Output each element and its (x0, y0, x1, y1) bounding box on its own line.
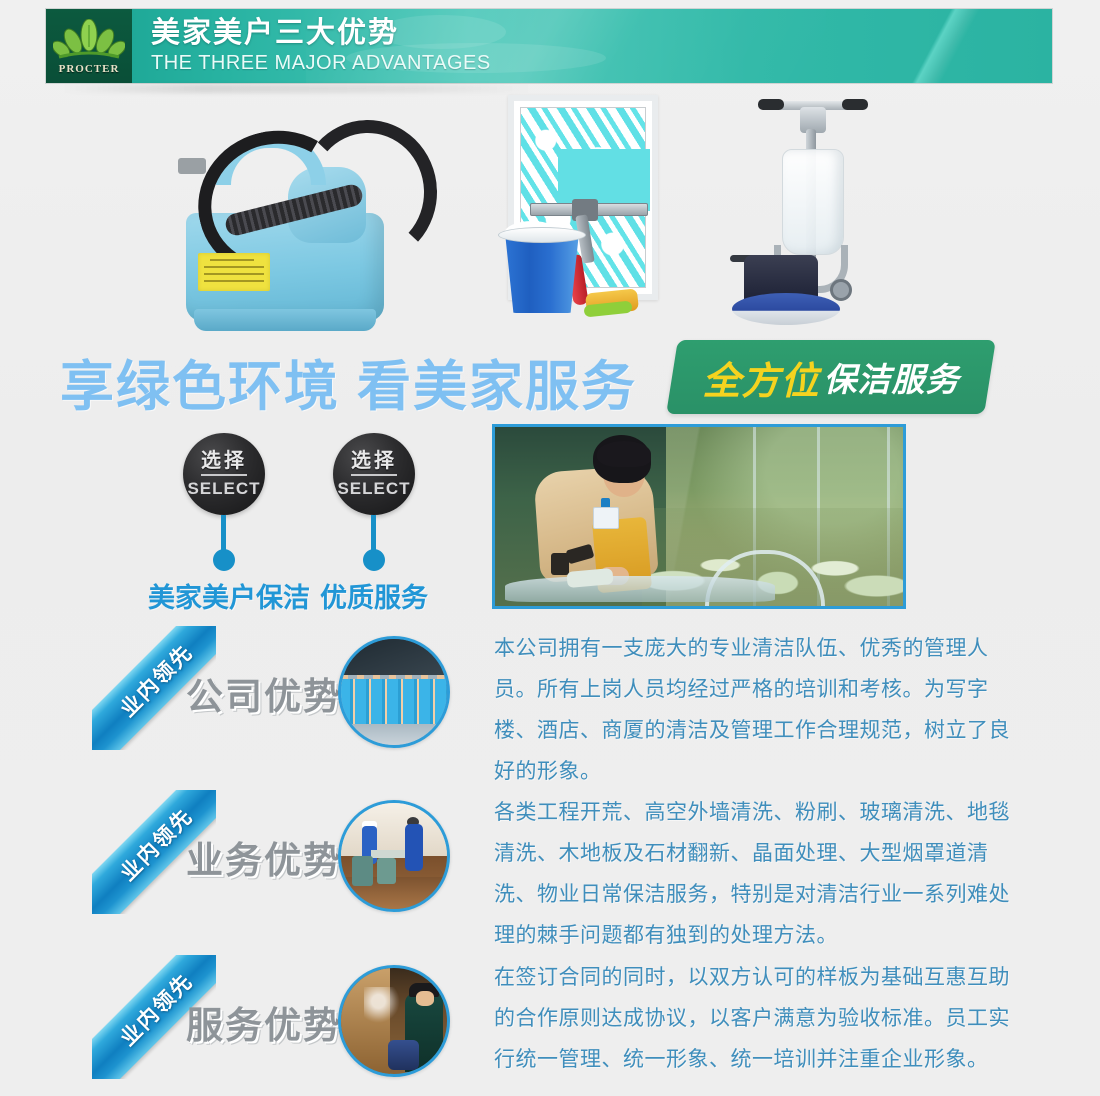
badge-highlight-text: 全方位 (702, 350, 819, 405)
photo-staff-pocket (551, 553, 569, 575)
select-badge-2-cn: 选择 (351, 450, 397, 476)
staff-team-lineup-photo (338, 636, 450, 748)
advantage-text-2: 各类工程开荒、高空外墙清洗、粉刷、玻璃清洗、地毯清洗、木地板及石材翻新、晶面处理… (494, 792, 1014, 956)
thumb-spray-mist (364, 987, 400, 1023)
thumb-roof (341, 639, 447, 675)
banner-title-cn: 美家美户三大优势 (151, 16, 491, 50)
window-cleaning-image (500, 95, 660, 320)
sprayer-spec-label (198, 253, 270, 291)
banner-diagonal-highlight (746, 8, 1053, 84)
select-label-2: 优质服务 (320, 576, 428, 615)
bucket (500, 233, 584, 313)
select-dot-2 (363, 549, 385, 571)
advantage-row-3: 业内领先 服务优势 在签订合同的同时，以双方认可的样板为基础互惠互助的合作原则达… (0, 955, 1100, 1067)
polisher-grip-left (758, 99, 784, 110)
thumb-staff-row (341, 679, 447, 726)
select-badge-1-en: SELECT (187, 479, 260, 499)
select-connector-2 (371, 515, 376, 553)
company-logo: PROCTER (46, 9, 132, 84)
floor-polisher-image (730, 95, 900, 325)
select-badge-1[interactable]: 选择 SELECT (183, 433, 265, 515)
advantage-title-2: 业务优势 (186, 830, 342, 884)
select-dot-1 (213, 549, 235, 571)
banner-drop-shadow (62, 84, 532, 93)
polisher-grip-right (842, 99, 868, 110)
banner-text-block: 美家美户三大优势 THE THREE MAJOR ADVANTAGES (151, 16, 491, 76)
polisher-solution-tank (782, 149, 844, 255)
worker-spraying-photo (338, 965, 450, 1077)
select-badge-1-cn: 选择 (201, 450, 247, 476)
banner-title-en: THE THREE MAJOR ADVANTAGES (151, 50, 491, 76)
promo-page: PROCTER 美家美户三大优势 THE THREE MAJOR ADVANTA… (0, 0, 1100, 1096)
thumb-chair-2 (377, 858, 396, 883)
full-service-badge: 全方位 保洁服务 (666, 340, 996, 414)
thumb-wall (341, 803, 447, 856)
bucket-rim (498, 227, 586, 243)
photo-staff-fringe (597, 441, 651, 467)
polisher-wheel (830, 279, 852, 301)
main-headline: 享绿色环境 看美家服务 (60, 342, 637, 421)
select-badge-2-en: SELECT (337, 479, 410, 499)
advantage-row-1: 业内领先 公司优势 本公司拥有一支庞大的专业清洁队伍、优秀的管理人员。所有上岗人… (0, 626, 1100, 738)
select-badge-2[interactable]: 选择 SELECT (333, 433, 415, 515)
advantage-row-2: 业内领先 业务优势 各类工程开荒、高空外墙清洗、粉刷、玻璃清洗、地毯清洗、木地板… (0, 790, 1100, 902)
photo-staff-id-badge (593, 507, 619, 529)
photo-glass-table (505, 576, 775, 602)
staff-cleaning-glass-table-photo (492, 424, 906, 609)
thumb-chair (352, 856, 373, 886)
sprayer-nozzle (178, 158, 206, 174)
leaf-crown-icon (53, 19, 125, 65)
product-image-row (0, 95, 1100, 340)
ulv-sprayer-image (168, 103, 418, 333)
header-banner: PROCTER 美家美户三大优势 THE THREE MAJOR ADVANTA… (45, 8, 1053, 84)
advantage-text-3: 在签订合同的同时，以双方认可的样板为基础互惠互助的合作原则达成协议，以客户满意为… (494, 957, 1014, 1080)
thumb-worker-b (405, 824, 423, 871)
thumb-ground (341, 724, 447, 745)
polisher-pad-base (732, 293, 840, 325)
advantage-title-3: 服务优势 (186, 995, 342, 1049)
thumb-worker-face (416, 991, 434, 1006)
badge-rest-text: 保洁服务 (824, 353, 960, 401)
indoor-cleaning-photo (338, 800, 450, 912)
advantage-text-1: 本公司拥有一支庞大的专业清洁队伍、优秀的管理人员。所有上岗人员均经过严格的培训和… (494, 628, 1014, 792)
select-connector-1 (221, 515, 226, 553)
advantage-title-1: 公司优势 (186, 666, 342, 720)
select-label-1: 美家美户保洁 (148, 576, 310, 615)
thumb-spray-machine (388, 1040, 420, 1070)
